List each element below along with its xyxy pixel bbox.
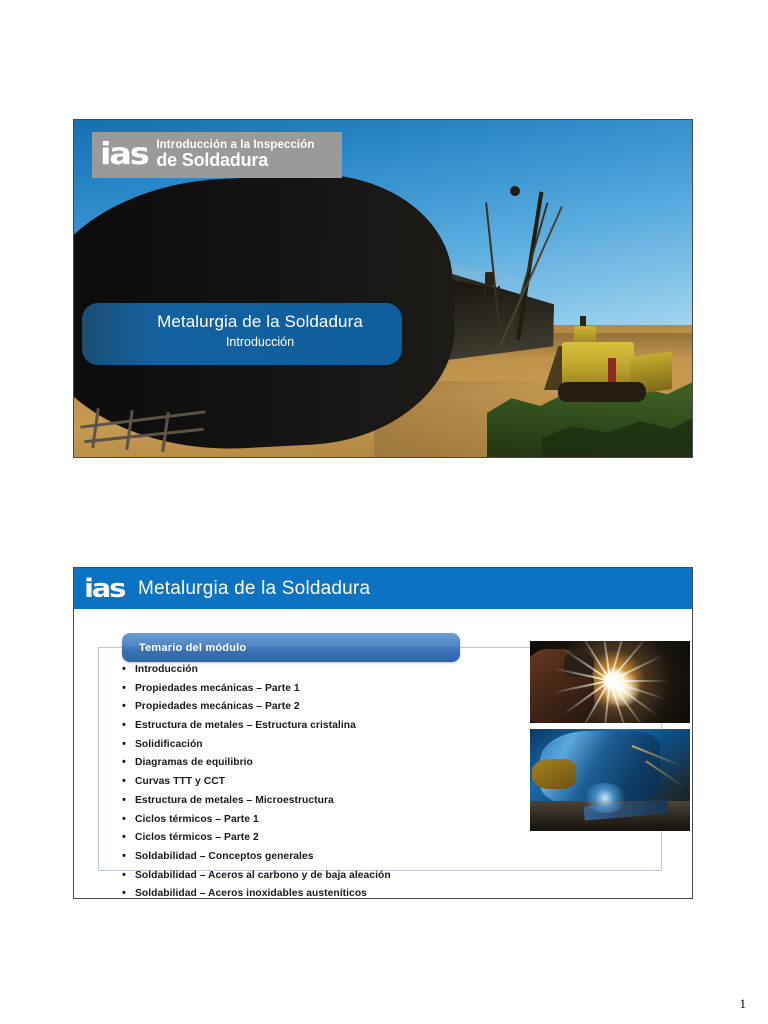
brand-tagline: Introducción a la Inspección de Soldadur… [156, 139, 314, 171]
brand-logo-box: ias Introducción a la Inspección de Sold… [92, 132, 342, 178]
list-item: Diagramas de equilibrio [122, 758, 422, 768]
cover-title-banner: Metalurgia de la Soldadura Introducción [82, 303, 402, 365]
crane-hook-block [485, 272, 494, 286]
list-item: Ciclos térmicos – Parte 2 [122, 833, 422, 843]
scaffolding [80, 388, 206, 448]
list-item: Propiedades mecánicas – Parte 1 [122, 684, 422, 694]
list-item: Solidificación [122, 740, 422, 750]
list-item: Estructura de metales – Estructura crist… [122, 721, 422, 731]
list-item: Estructura de metales – Microestructura [122, 796, 422, 806]
ias-logo: ias [100, 140, 147, 170]
list-item: Soldabilidad – Aceros inoxidables austen… [122, 889, 422, 899]
list-item: Soldabilidad – Conceptos generales [122, 852, 422, 862]
list-item: Introducción [122, 665, 422, 675]
cover-title: Metalurgia de la Soldadura [118, 312, 402, 332]
arc-welding-photo [530, 641, 690, 723]
page-number: 1 [740, 996, 747, 1012]
crane-pivot [510, 186, 520, 196]
section-tab-label: Temario del módulo [139, 642, 246, 654]
welding-glove [532, 759, 576, 789]
ias-logo: ias [84, 576, 124, 602]
slide-body: Temario del módulo Introducción Propieda… [74, 609, 692, 898]
arc-glow [582, 783, 628, 813]
brand-line-2: de Soldadura [156, 151, 314, 171]
machine-track [558, 382, 646, 402]
cover-slide: ias Introducción a la Inspección de Sold… [73, 119, 693, 458]
cover-subtitle: Introducción [118, 335, 402, 349]
list-item: Curvas TTT y CCT [122, 777, 422, 787]
list-item: Ciclos térmicos – Parte 1 [122, 815, 422, 825]
machine-detail [608, 358, 616, 384]
slide-header-bar: ias Metalurgia de la Soldadura [74, 568, 692, 609]
agenda-list: Introducción Propiedades mecánicas – Par… [122, 665, 422, 899]
section-tab: Temario del módulo [122, 633, 460, 662]
slide-title: Metalurgia de la Soldadura [138, 578, 370, 600]
list-item: Propiedades mecánicas – Parte 2 [122, 702, 422, 712]
mig-welding-photo [530, 729, 690, 831]
agenda-slide: ias Metalurgia de la Soldadura Temario d… [73, 567, 693, 899]
list-item: Soldabilidad – Aceros al carbono y de ba… [122, 871, 422, 881]
